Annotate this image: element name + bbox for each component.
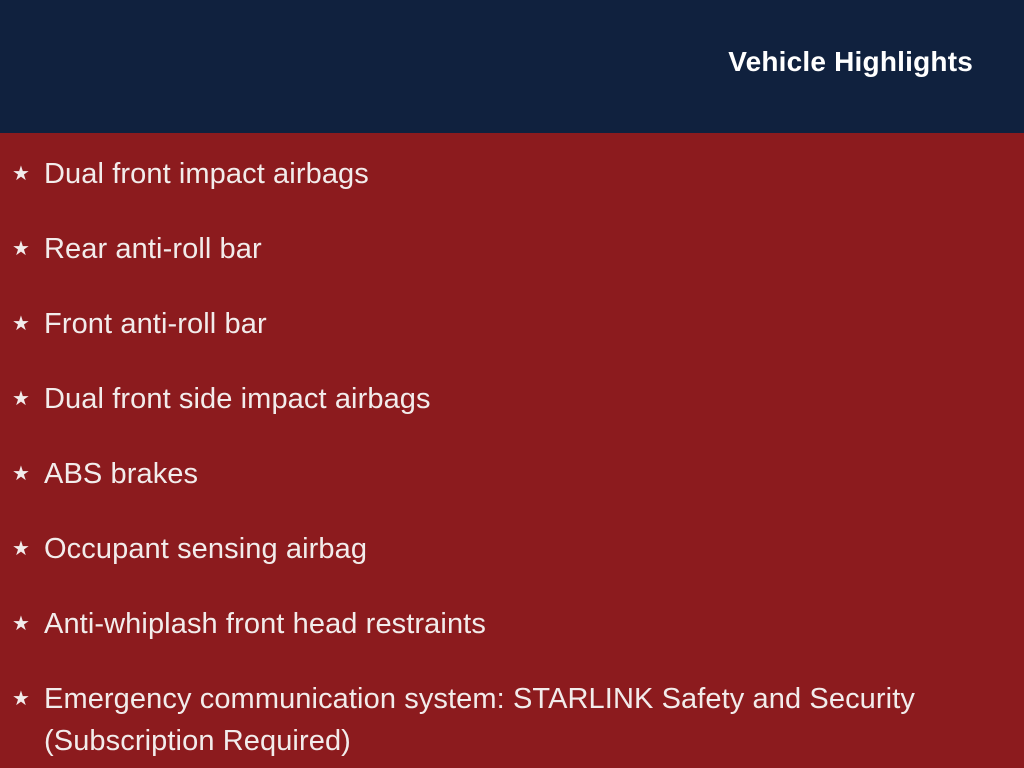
list-item: ★ Rear anti-roll bar [0,228,1004,270]
list-item: ★ Anti-whiplash front head restraints [0,603,1004,645]
list-item: ★ Emergency communication system: STARLI… [0,678,1004,762]
star-icon: ★ [12,228,44,270]
list-item: ★ Front anti-roll bar [0,303,1004,345]
star-icon: ★ [12,453,44,495]
list-item: ★ ABS brakes [0,453,1004,495]
list-item: ★ Dual front side impact airbags [0,378,1004,420]
list-item-label: Front anti-roll bar [44,303,1004,345]
star-icon: ★ [12,603,44,645]
list-item-label: Dual front impact airbags [44,153,1004,195]
star-icon: ★ [12,153,44,195]
slide-vehicle-highlights: Vehicle Highlights ★ Dual front impact a… [0,0,1024,768]
list-item-label: ABS brakes [44,453,1004,495]
list-item-label: Rear anti-roll bar [44,228,1004,270]
highlights-panel: ★ Dual front impact airbags ★ Rear anti-… [0,133,1024,768]
list-item: ★ Dual front impact airbags [0,153,1004,195]
star-icon: ★ [12,528,44,570]
star-icon: ★ [12,303,44,345]
list-item: ★ Occupant sensing airbag [0,528,1004,570]
star-icon: ★ [12,678,44,720]
star-icon: ★ [12,378,44,420]
list-item-label: Dual front side impact airbags [44,378,1004,420]
vehicle-highlights-list: ★ Dual front impact airbags ★ Rear anti-… [0,133,1024,762]
list-item-label: Occupant sensing airbag [44,528,1004,570]
header-bar: Vehicle Highlights [0,0,1024,133]
list-item-label: Emergency communication system: STARLINK… [44,678,1004,762]
page-title: Vehicle Highlights [728,45,973,79]
list-item-label: Anti-whiplash front head restraints [44,603,1004,645]
